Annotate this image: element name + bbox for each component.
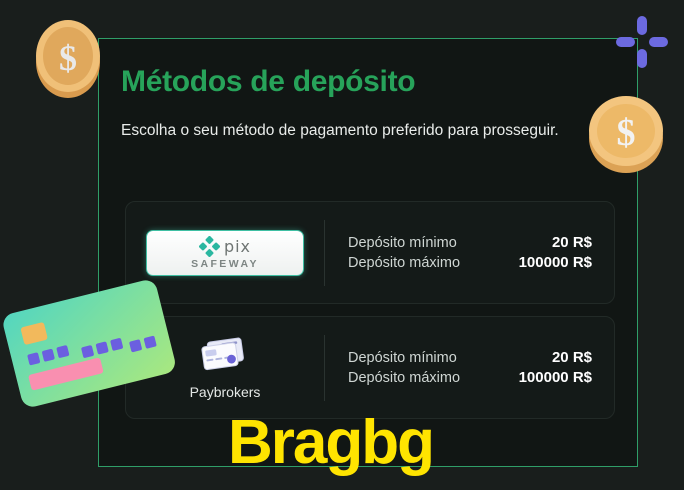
pix-logo-column: pix SAFEWAY: [126, 230, 324, 276]
payment-method-paybrokers[interactable]: Paybrokers Depósito mínimo 20 R$ Depósit…: [125, 316, 615, 419]
max-deposit-value: 100000 R$: [519, 254, 592, 271]
min-deposit-value: 20 R$: [552, 234, 592, 251]
paybrokers-logo-column: Paybrokers: [126, 335, 324, 400]
watermark-text: Bragbg: [228, 412, 433, 474]
min-deposit-value: 20 R$: [552, 349, 592, 366]
limit-row-min: Depósito mínimo 20 R$: [348, 349, 592, 366]
max-deposit-label: Depósito máximo: [348, 370, 460, 386]
svg-text:$: $: [59, 38, 77, 78]
credit-card-stack-icon: [197, 335, 253, 377]
paybrokers-label: Paybrokers: [190, 384, 261, 400]
paybrokers-limits: Depósito mínimo 20 R$ Depósito máximo 10…: [324, 346, 614, 389]
pix-limits: Depósito mínimo 20 R$ Depósito máximo 10…: [324, 231, 614, 274]
page-title: Métodos de depósito: [121, 65, 415, 99]
card-divider: [324, 335, 325, 401]
limit-row-max: Depósito máximo 100000 R$: [348, 369, 592, 386]
deposit-methods-panel: Métodos de depósito Escolha o seu método…: [98, 38, 638, 467]
pix-diamond-icon: [199, 236, 220, 257]
pix-logo-plate: pix SAFEWAY: [146, 230, 304, 276]
min-deposit-label: Depósito mínimo: [348, 235, 457, 251]
pix-wordmark: pix: [224, 239, 251, 255]
card-divider: [324, 220, 325, 286]
max-deposit-label: Depósito máximo: [348, 255, 460, 271]
max-deposit-value: 100000 R$: [519, 369, 592, 386]
screen: Métodos de depósito Escolha o seu método…: [0, 0, 684, 490]
min-deposit-label: Depósito mínimo: [348, 350, 457, 366]
limit-row-max: Depósito máximo 100000 R$: [348, 254, 592, 271]
pix-safeway-label: SAFEWAY: [191, 258, 259, 270]
payment-methods-list: pix SAFEWAY Depósito mínimo 20 R$ Depósi…: [125, 201, 615, 431]
page-subtitle: Escolha o seu método de pagamento prefer…: [121, 117, 591, 145]
coin-dollar-icon: $: [28, 12, 108, 107]
payment-method-pix-safeway[interactable]: pix SAFEWAY Depósito mínimo 20 R$ Depósi…: [125, 201, 615, 304]
limit-row-min: Depósito mínimo 20 R$: [348, 234, 592, 251]
